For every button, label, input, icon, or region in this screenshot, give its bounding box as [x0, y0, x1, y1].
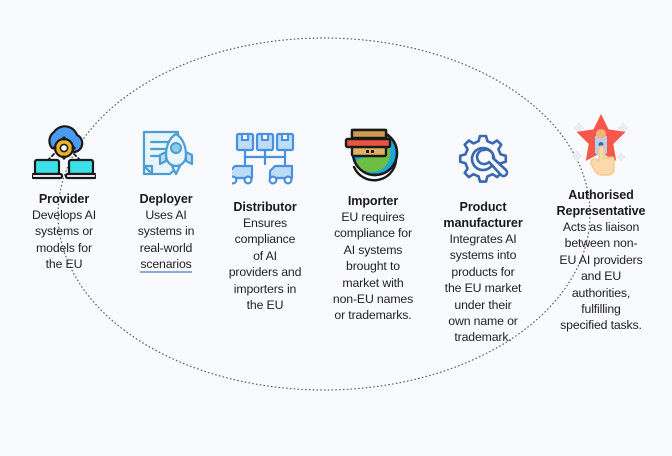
desc-line: specified tasks.	[560, 318, 642, 332]
desc-line: between non-	[565, 236, 638, 250]
role-description: Ensures compliance of AI providers and i…	[212, 215, 318, 313]
desc-line: trademark.	[454, 330, 511, 344]
desc-line: EU requires	[341, 210, 404, 224]
desc-line: own name or	[448, 314, 517, 328]
desc-line: the EU	[46, 257, 83, 271]
desc-line: non-EU names	[333, 292, 413, 306]
role-title: Product manufacturer	[428, 199, 538, 231]
desc-line: AI systems	[344, 243, 403, 257]
globe-package-icon	[318, 106, 428, 182]
role-title-text: Authorised Representative	[557, 188, 646, 218]
desc-line: models for	[36, 241, 92, 255]
desc-line: fulfilling	[581, 302, 621, 316]
desc-line: systems in	[138, 224, 195, 238]
role-description: Integrates AI systems into products for …	[428, 231, 538, 346]
desc-line: importers in	[234, 282, 296, 296]
role-card-product-manufacturer: Product manufacturer Integrates AI syste…	[428, 112, 538, 346]
star-hand-icon	[538, 100, 664, 176]
role-title: Authorised Representative	[538, 187, 664, 219]
boxes-trucks-icon	[212, 112, 318, 188]
desc-line: compliance	[235, 232, 296, 246]
desc-line: Acts as liaison	[563, 220, 639, 234]
desc-line: market with	[342, 276, 403, 290]
desc-line: real-world	[140, 241, 193, 255]
desc-line: and EU	[581, 269, 621, 283]
desc-line: the EU market	[445, 281, 522, 295]
desc-line: Integrates AI	[449, 232, 516, 246]
role-card-authorised-representative: Authorised Representative Acts as liaiso…	[538, 100, 664, 334]
desc-line: authorities,	[572, 286, 630, 300]
desc-line: providers and	[229, 265, 302, 279]
role-title: Importer	[318, 193, 428, 209]
desc-line: brought to	[346, 259, 400, 273]
desc-line: systems into	[450, 248, 517, 262]
desc-line: or trademarks.	[334, 308, 411, 322]
role-title: Provider	[10, 191, 118, 207]
desc-line-misspelled: scenarios	[140, 257, 191, 273]
role-description: Uses AI systems in real-world scenarios	[114, 207, 218, 273]
role-title: Deployer	[114, 191, 218, 207]
role-description: Develops AI systems or models for the EU	[10, 207, 118, 273]
desc-line: under their	[454, 298, 511, 312]
desc-line: systems or	[35, 224, 93, 238]
role-description: EU requires compliance for AI systems br…	[318, 209, 428, 324]
document-rocket-icon	[114, 104, 218, 180]
role-title: Distributor	[212, 199, 318, 215]
desc-line: of AI	[253, 249, 277, 263]
role-card-distributor: Distributor Ensures compliance of AI pro…	[212, 112, 318, 313]
role-card-deployer: Deployer Uses AI systems in real-world s…	[114, 104, 218, 273]
desc-line: compliance for	[334, 226, 412, 240]
role-description: Acts as liaison between non- EU AI provi…	[538, 219, 664, 334]
gear-wrench-icon	[428, 112, 538, 188]
desc-line: Uses AI	[145, 208, 186, 222]
diagram-canvas: Provider Develops AI systems or models f…	[0, 0, 672, 456]
desc-line: Develops AI	[32, 208, 96, 222]
desc-line: the EU	[247, 298, 284, 312]
cloud-gear-laptops-icon	[10, 104, 118, 180]
desc-line: Ensures	[243, 216, 287, 230]
role-card-provider: Provider Develops AI systems or models f…	[10, 104, 118, 273]
desc-line: products for	[451, 265, 514, 279]
role-card-importer: Importer EU requires compliance for AI s…	[318, 106, 428, 324]
desc-line: EU AI providers	[559, 253, 642, 267]
